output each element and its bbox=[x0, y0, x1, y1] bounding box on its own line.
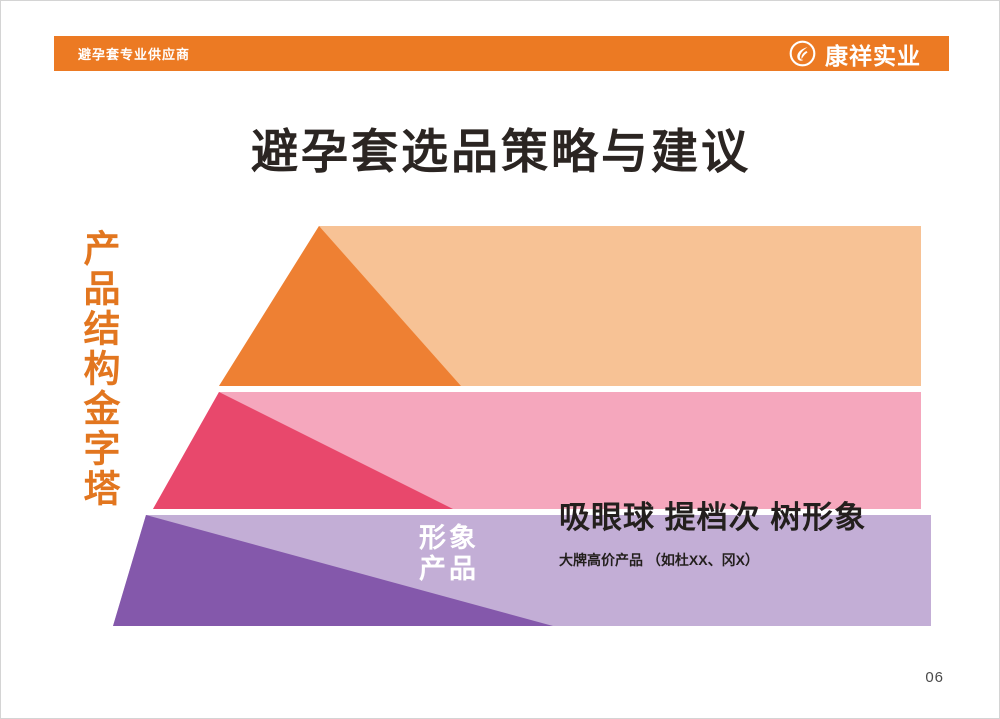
tier-body-image-products: 吸眼球 提档次 树形象 大牌高价产品 （如杜XX、冈X） bbox=[559, 492, 866, 570]
tier-label-line-2: 产品 bbox=[419, 554, 479, 584]
tier-shape-image-products bbox=[131, 226, 921, 386]
tier-subline-image-products-1: 大牌高价产品 （如杜XX、冈X） bbox=[559, 550, 866, 570]
tier-label-line-1: 形象 bbox=[419, 523, 479, 553]
page-number: 06 bbox=[925, 669, 944, 686]
product-structure-pyramid: 形象 产品 吸眼球 提档次 树形象 大牌高价产品 （如杜XX、冈X） 主推产品 … bbox=[1, 1, 1000, 719]
tier-heading-image-products: 吸眼球 提档次 树形象 bbox=[559, 492, 866, 537]
tier-label-image-products: 形象 产品 bbox=[393, 523, 505, 586]
slide-canvas: 避孕套专业供应商 康祥实业 避孕套选品策略与建议 产品结构金字塔 形象 产品 bbox=[0, 0, 1000, 719]
pyramid-tier-image-products[interactable]: 形象 产品 吸眼球 提档次 树形象 大牌高价产品 （如杜XX、冈X） bbox=[131, 226, 921, 386]
